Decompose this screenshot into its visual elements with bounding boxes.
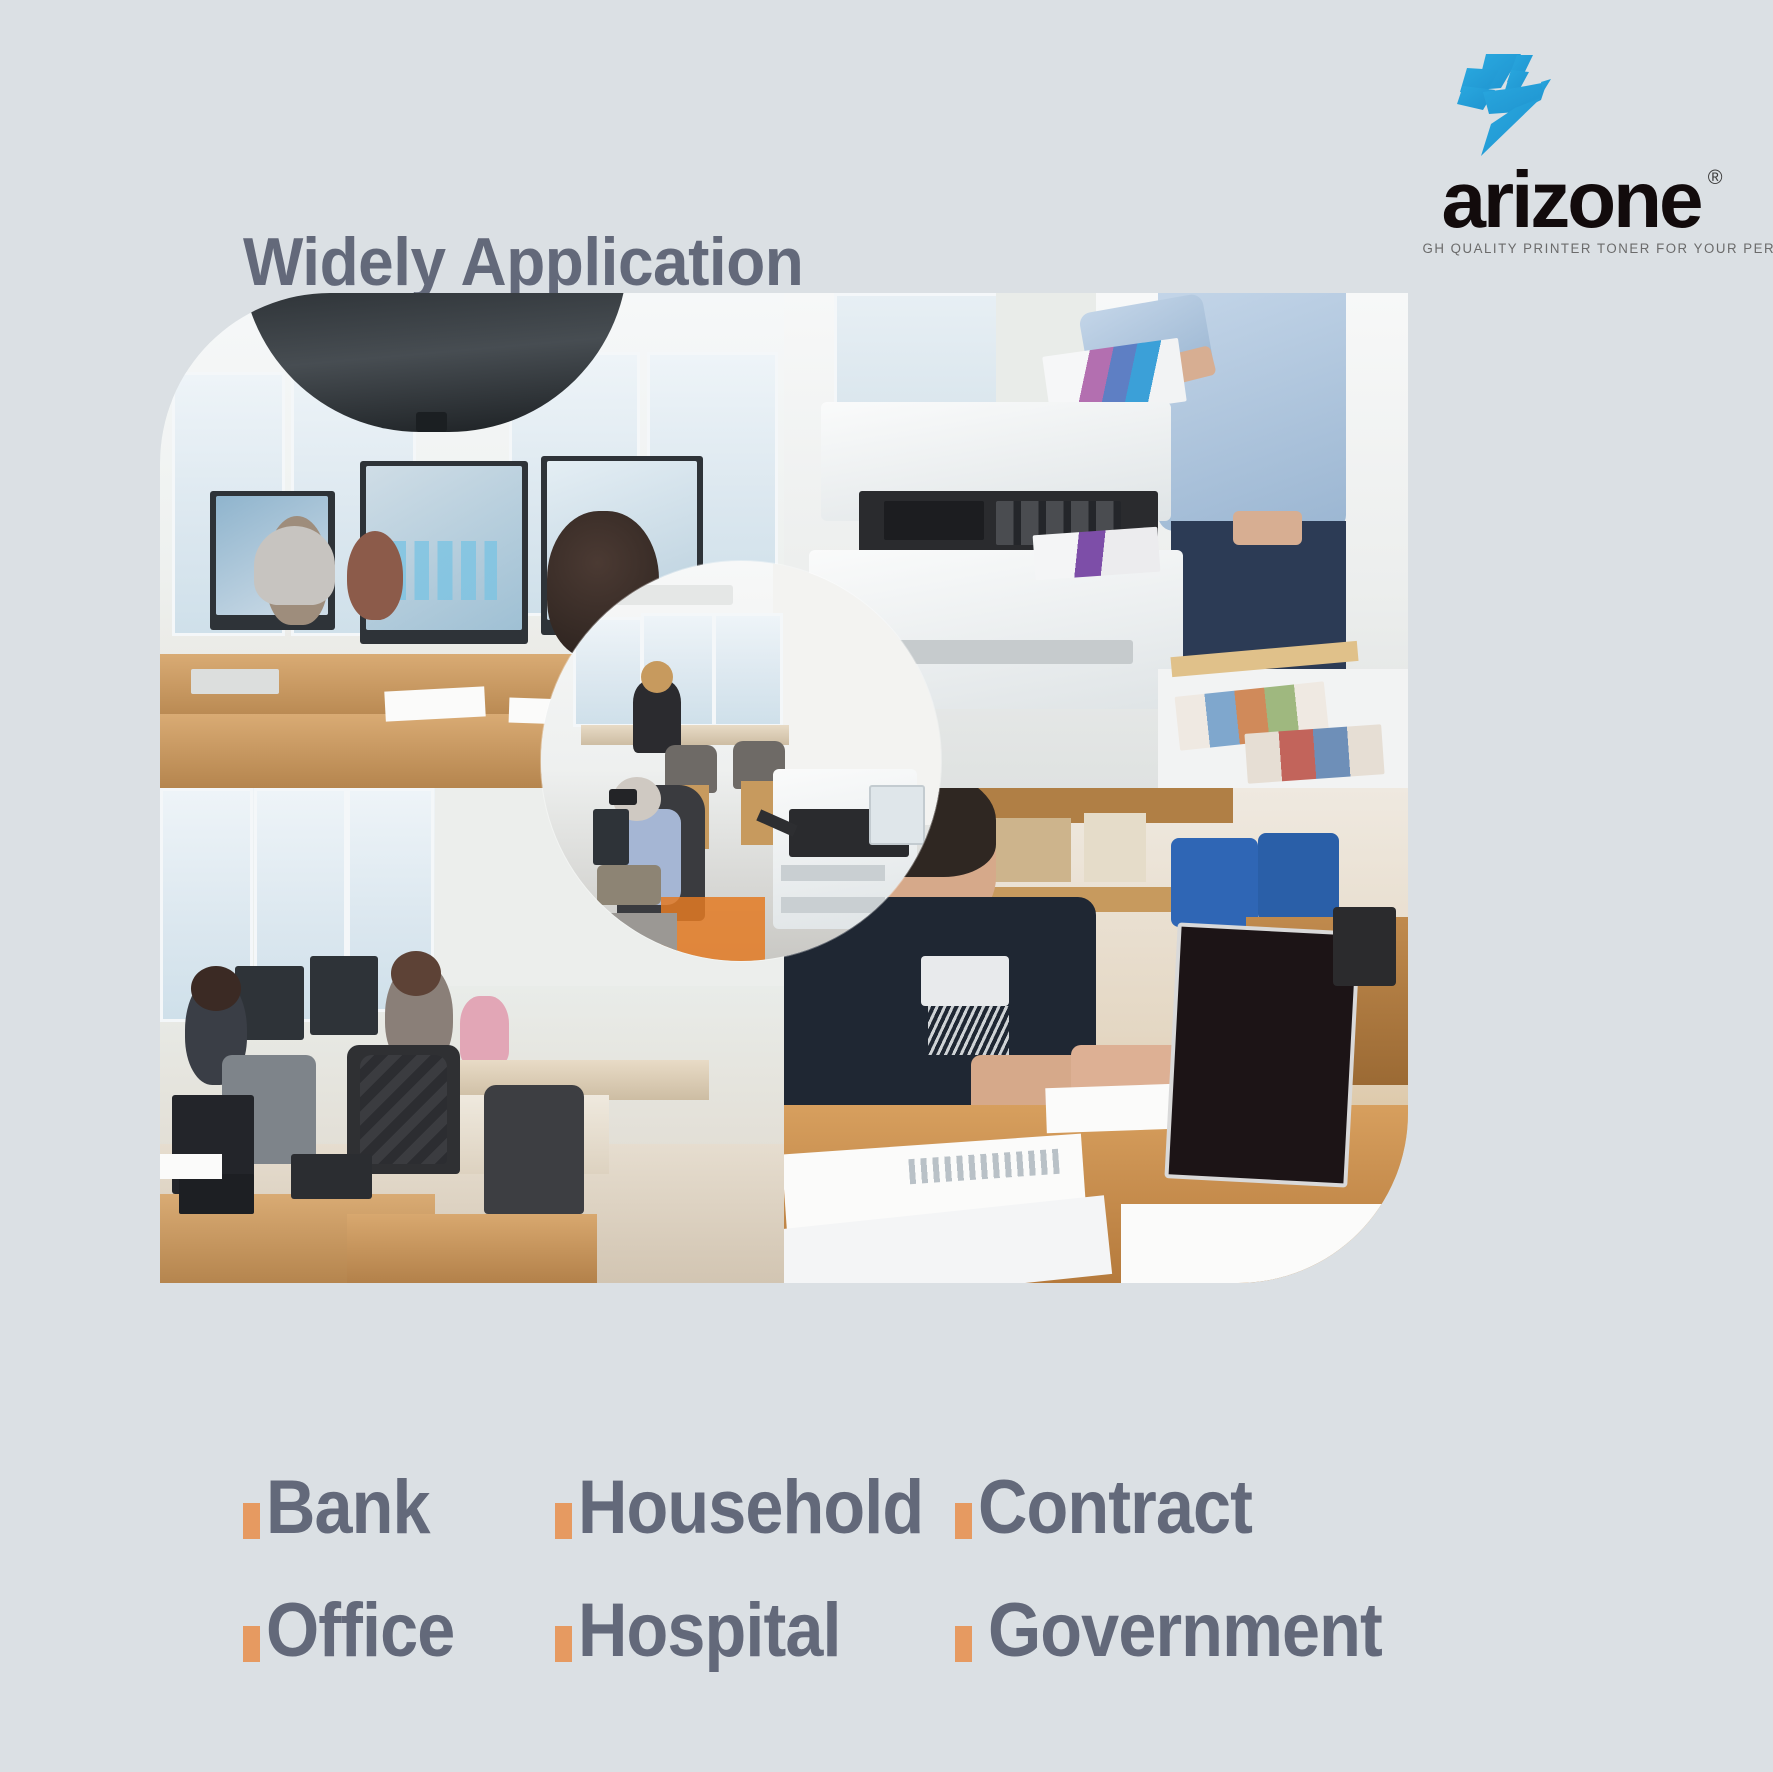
application-label-text: Household: [578, 1470, 923, 1546]
application-label-government[interactable]: Government: [955, 1593, 1426, 1669]
application-label-household[interactable]: Household: [555, 1470, 955, 1546]
copier-room-photo: [541, 561, 941, 961]
page-title: Widely Application: [243, 228, 803, 296]
bullet-icon: [955, 1626, 972, 1662]
application-label-row: Bank Household Contract: [243, 1470, 1563, 1546]
bullet-icon: [555, 1626, 572, 1662]
application-label-office[interactable]: Office: [243, 1593, 555, 1669]
bullet-icon: [555, 1503, 572, 1539]
brand-wordmark: arizone: [1441, 166, 1700, 235]
bullet-icon: [955, 1503, 972, 1539]
application-label-text: Office: [266, 1593, 454, 1669]
application-label-contract[interactable]: Contract: [955, 1470, 1282, 1546]
application-label-text: Contract: [978, 1470, 1252, 1546]
registered-mark: ®: [1708, 168, 1723, 188]
application-label-row: Office Hospital Government: [243, 1593, 1563, 1669]
application-label-text: Bank: [266, 1470, 430, 1546]
application-label-text: Hospital: [578, 1593, 841, 1669]
application-photo-collage: [160, 293, 1408, 1283]
application-label-hospital[interactable]: Hospital: [555, 1593, 955, 1669]
bird-logo-icon: [1455, 52, 1595, 164]
brand-logo: arizone ® GH QUALITY PRINTER TONER FOR Y…: [1421, 52, 1721, 256]
bullet-icon: [243, 1503, 260, 1539]
application-label-bank[interactable]: Bank: [243, 1470, 555, 1546]
application-labels: Bank Household Contract Office Hospital …: [243, 1470, 1563, 1669]
application-label-text: Government: [988, 1593, 1382, 1669]
brand-tagline: GH QUALITY PRINTER TONER FOR YOUR PERFEC…: [1423, 241, 1720, 256]
bullet-icon: [243, 1626, 260, 1662]
